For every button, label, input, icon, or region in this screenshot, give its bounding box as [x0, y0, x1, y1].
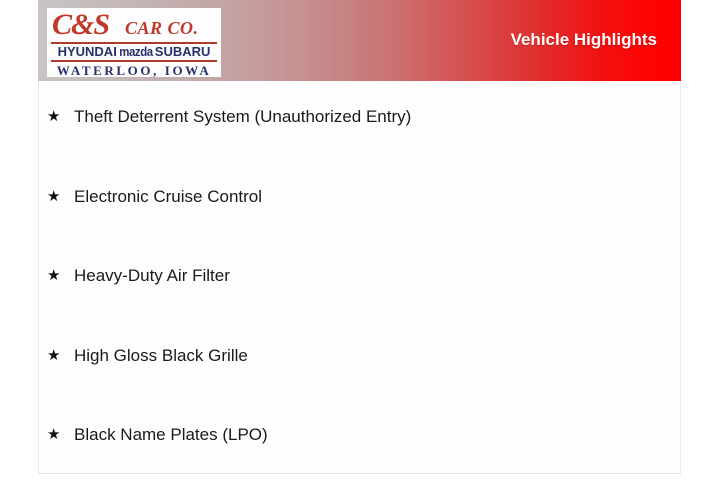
- list-item-label: High Gloss Black Grille: [74, 344, 248, 368]
- list-item: ★ Theft Deterrent System (Unauthorized E…: [47, 105, 647, 185]
- list-item: ★ Black Name Plates (LPO): [47, 423, 647, 480]
- logo-city-state: WATERLOO, IOWA: [51, 63, 217, 77]
- star-bullet-icon: ★: [47, 344, 60, 368]
- logo-brand-subaru: SUBARU: [155, 44, 211, 59]
- list-item: ★ High Gloss Black Grille: [47, 344, 647, 424]
- list-item-label: Heavy-Duty Air Filter: [74, 264, 230, 288]
- list-item: ★ Electronic Cruise Control: [47, 185, 647, 265]
- star-bullet-icon: ★: [47, 264, 60, 288]
- list-item-label: Theft Deterrent System (Unauthorized Ent…: [74, 105, 411, 129]
- logo-name-primary: C&S: [52, 10, 109, 40]
- vehicle-highlights-slide: Vehicle Highlights C&S CAR CO. HYUNDAIma…: [0, 0, 720, 480]
- logo-brand-row: HYUNDAImazdaSUBARU: [51, 44, 217, 59]
- star-bullet-icon: ★: [47, 423, 60, 447]
- page-title: Vehicle Highlights: [511, 30, 657, 50]
- list-item-label: Black Name Plates (LPO): [74, 423, 268, 447]
- star-bullet-icon: ★: [47, 105, 60, 129]
- star-bullet-icon: ★: [47, 185, 60, 209]
- list-item: ★ Heavy-Duty Air Filter: [47, 264, 647, 344]
- list-item-label: Electronic Cruise Control: [74, 185, 262, 209]
- vehicle-highlights-list: ★ Theft Deterrent System (Unauthorized E…: [47, 105, 647, 480]
- logo-brand-mazda: mazda: [119, 44, 152, 59]
- logo-name-secondary: CAR CO.: [125, 19, 199, 37]
- logo-wordmark-row: C&S CAR CO.: [47, 10, 221, 42]
- logo-brand-hyundai: HYUNDAI: [58, 44, 117, 59]
- logo-divider-bottom: [51, 60, 217, 62]
- dealership-logo: C&S CAR CO. HYUNDAImazdaSUBARU WATERLOO,…: [47, 8, 221, 77]
